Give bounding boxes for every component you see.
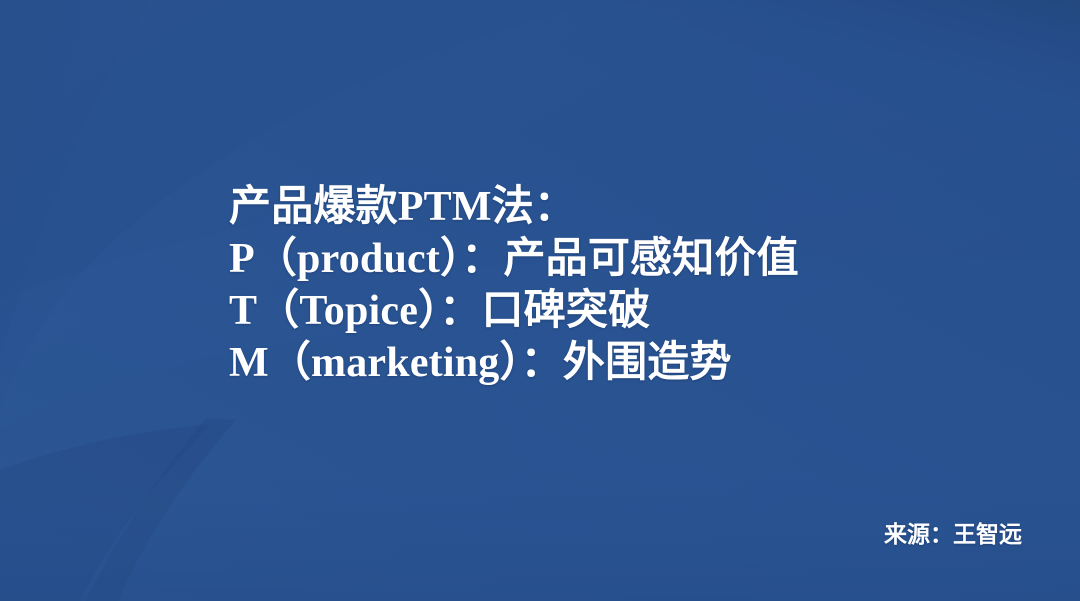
headline-block: 产品爆款PTM法： P（product）：产品可感知价值 T（Topice）：口… [229, 181, 1049, 389]
slide-content: 产品爆款PTM法： P（product）：产品可感知价值 T（Topice）：口… [0, 0, 1080, 601]
source-attribution: 来源：王智远 [884, 521, 1022, 549]
headline-line-product: P（product）：产品可感知价值 [229, 233, 1049, 285]
headline-line-marketing: M（marketing）：外围造势 [229, 337, 1049, 389]
headline-line-title: 产品爆款PTM法： [229, 181, 1049, 233]
presentation-slide: 产品爆款PTM法： P（product）：产品可感知价值 T（Topice）：口… [0, 0, 1080, 601]
headline-line-topic: T（Topice）：口碑突破 [229, 285, 1049, 337]
